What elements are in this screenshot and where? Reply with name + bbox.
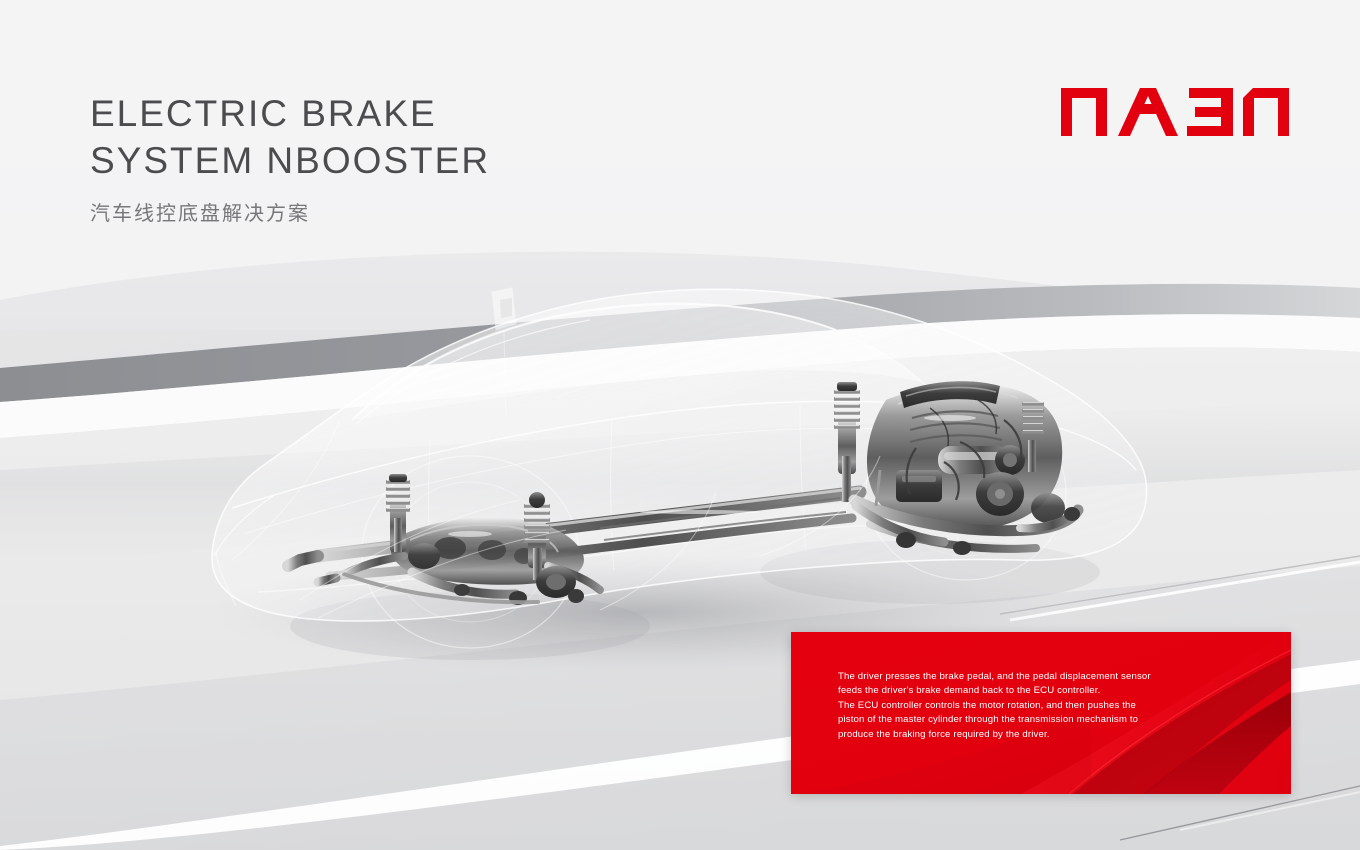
slide-canvas: ELECTRIC BRAKE SYSTEM NBOOSTER 汽车线控底盘解决方…: [0, 0, 1360, 850]
page-subtitle: 汽车线控底盘解决方案: [90, 197, 490, 226]
info-line-5: produce the braking force required by th…: [838, 728, 1158, 742]
info-line-3: The ECU controller controls the motor ro…: [838, 699, 1158, 713]
info-panel-text: The driver presses the brake pedal, and …: [838, 670, 1158, 742]
page-title: ELECTRIC BRAKE SYSTEM NBOOSTER 汽车线控底盘解决方…: [90, 90, 490, 226]
info-line-1: The driver presses the brake pedal, and …: [838, 670, 1158, 684]
ecu-module: [896, 470, 942, 502]
title-line-1: ELECTRIC BRAKE: [90, 90, 490, 137]
title-line-2: SYSTEM NBOOSTER: [90, 137, 490, 184]
info-panel: The driver presses the brake pedal, and …: [791, 632, 1291, 794]
info-line-4: piston of the master cylinder through th…: [838, 713, 1158, 727]
info-line-2: feeds the driver's brake demand back to …: [838, 684, 1158, 698]
nasn-logo-mark: [1061, 82, 1289, 136]
nasn-logo: [1061, 82, 1289, 136]
